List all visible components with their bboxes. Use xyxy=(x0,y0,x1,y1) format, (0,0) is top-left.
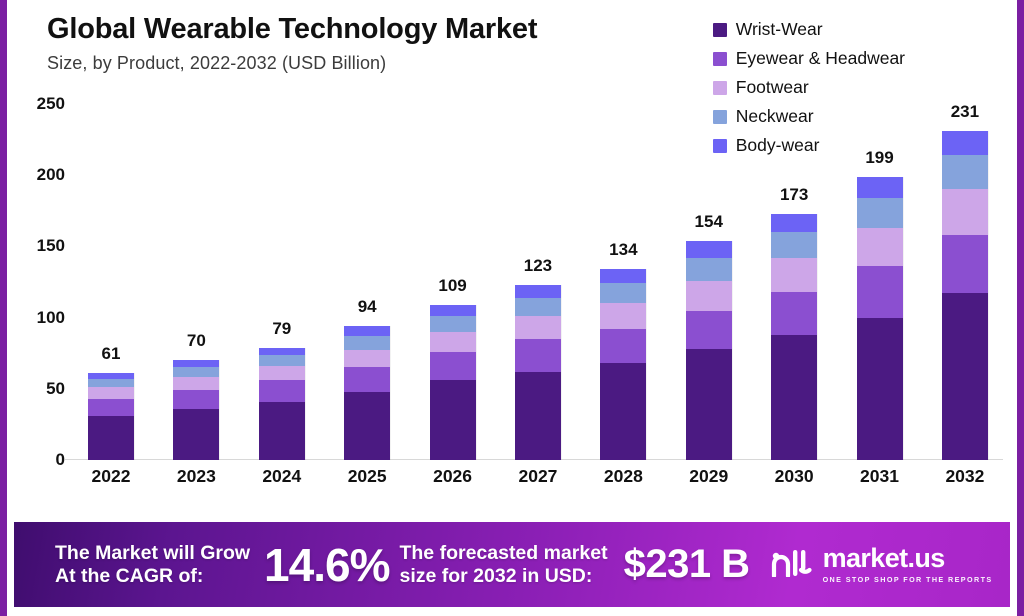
bar-segment-neckwear[interactable] xyxy=(600,283,646,303)
bar-segment-eyewear-headwear[interactable] xyxy=(857,266,903,317)
bar-segment-neckwear[interactable] xyxy=(173,367,219,377)
bar-total-label: 123 xyxy=(524,256,552,276)
right-edge-rail xyxy=(1017,0,1024,616)
bar-stack[interactable] xyxy=(515,285,561,460)
bar-segment-body-wear[interactable] xyxy=(259,348,305,355)
legend-swatch-icon xyxy=(713,23,727,37)
bar-segment-eyewear-headwear[interactable] xyxy=(515,339,561,372)
market-us-mark-icon xyxy=(770,547,814,582)
y-axis-tick: 100 xyxy=(37,308,65,328)
bar-group-2028[interactable]: 134 xyxy=(597,104,649,460)
bar-segment-eyewear-headwear[interactable] xyxy=(88,399,134,416)
x-axis-tick-2024: 2024 xyxy=(256,466,308,494)
forecast-label-line1: The forecasted market xyxy=(399,542,607,565)
bar-total-label: 61 xyxy=(102,344,121,364)
bar-segment-neckwear[interactable] xyxy=(942,155,988,189)
bar-segment-body-wear[interactable] xyxy=(942,131,988,155)
infographic-root: Global Wearable Technology Market Size, … xyxy=(0,0,1024,616)
bar-stack[interactable] xyxy=(857,177,903,460)
bar-segment-body-wear[interactable] xyxy=(515,285,561,298)
bar-total-label: 231 xyxy=(951,102,979,122)
forecast-label-line2: size for 2032 in USD: xyxy=(399,565,607,588)
bar-segment-eyewear-headwear[interactable] xyxy=(942,235,988,293)
bar-group-2023[interactable]: 70 xyxy=(170,104,222,460)
x-axis-tick-2023: 2023 xyxy=(170,466,222,494)
bar-segment-footwear[interactable] xyxy=(259,366,305,380)
bar-segment-eyewear-headwear[interactable] xyxy=(600,329,646,363)
legend-item-wrist-wear[interactable]: Wrist-Wear xyxy=(713,18,905,41)
y-axis-tick: 50 xyxy=(46,379,65,399)
market-us-wordmark: market.us ONE STOP SHOP FOR THE REPORTS xyxy=(823,545,993,583)
x-axis-tick-2025: 2025 xyxy=(341,466,393,494)
bar-group-2030[interactable]: 173 xyxy=(768,104,820,460)
cagr-block: The Market will Grow At the CAGR of: 14.… xyxy=(55,538,389,592)
bar-total-label: 94 xyxy=(358,297,377,317)
x-axis-tick-2027: 2027 xyxy=(512,466,564,494)
bar-segment-body-wear[interactable] xyxy=(600,269,646,283)
bar-segment-neckwear[interactable] xyxy=(857,198,903,228)
bar-segment-footwear[interactable] xyxy=(771,258,817,292)
bar-segment-neckwear[interactable] xyxy=(88,379,134,388)
bar-segment-neckwear[interactable] xyxy=(430,316,476,332)
bar-segment-footwear[interactable] xyxy=(942,189,988,235)
legend-label: Wrist-Wear xyxy=(736,19,823,40)
bar-segment-neckwear[interactable] xyxy=(771,232,817,258)
bar-segment-body-wear[interactable] xyxy=(686,241,732,258)
bar-stack[interactable] xyxy=(259,348,305,460)
bar-segment-neckwear[interactable] xyxy=(515,298,561,317)
bar-total-label: 134 xyxy=(609,240,637,260)
bar-segment-wrist-wear[interactable] xyxy=(942,293,988,460)
bar-segment-footwear[interactable] xyxy=(600,303,646,329)
bar-segment-wrist-wear[interactable] xyxy=(600,363,646,460)
bar-segment-wrist-wear[interactable] xyxy=(771,335,817,460)
bar-stack[interactable] xyxy=(771,214,817,460)
forecast-label: The forecasted market size for 2032 in U… xyxy=(399,542,607,588)
bar-group-2026[interactable]: 109 xyxy=(427,104,479,460)
bar-segment-eyewear-headwear[interactable] xyxy=(771,292,817,335)
page-subtitle: Size, by Product, 2022-2032 (USD Billion… xyxy=(47,53,537,74)
bar-total-label: 79 xyxy=(272,319,291,339)
x-axis-tick-2031: 2031 xyxy=(854,466,906,494)
legend-swatch-icon xyxy=(713,52,727,66)
bar-segment-footwear[interactable] xyxy=(173,377,219,390)
bar-group-2029[interactable]: 154 xyxy=(683,104,735,460)
bar-total-label: 109 xyxy=(438,276,466,296)
legend-label: Footwear xyxy=(736,77,809,98)
x-axis: 2022202320242025202620272028202920302031… xyxy=(73,466,1003,494)
bar-segment-neckwear[interactable] xyxy=(259,355,305,366)
bar-segment-wrist-wear[interactable] xyxy=(686,349,732,460)
bar-segment-eyewear-headwear[interactable] xyxy=(173,390,219,409)
bar-stack[interactable] xyxy=(173,360,219,460)
bar-stack[interactable] xyxy=(344,326,390,460)
bar-segment-body-wear[interactable] xyxy=(430,305,476,316)
bar-segment-wrist-wear[interactable] xyxy=(344,392,390,460)
bar-segment-eyewear-headwear[interactable] xyxy=(430,352,476,380)
bar-segment-eyewear-headwear[interactable] xyxy=(686,311,732,349)
plot-area: 050100150200250 617079941091231341541731… xyxy=(73,104,1003,460)
bar-total-label: 154 xyxy=(695,212,723,232)
summary-banner: The Market will Grow At the CAGR of: 14.… xyxy=(14,522,1010,607)
bar-total-label: 173 xyxy=(780,185,808,205)
x-axis-tick-2032: 2032 xyxy=(939,466,991,494)
bar-stack[interactable] xyxy=(686,241,732,460)
legend-item-eyewear-headwear[interactable]: Eyewear & Headwear xyxy=(713,47,905,70)
bar-segment-eyewear-headwear[interactable] xyxy=(344,367,390,391)
x-axis-tick-2022: 2022 xyxy=(85,466,137,494)
bar-segment-wrist-wear[interactable] xyxy=(173,409,219,460)
bar-segment-wrist-wear[interactable] xyxy=(857,318,903,460)
bar-segment-wrist-wear[interactable] xyxy=(88,416,134,460)
bar-segment-body-wear[interactable] xyxy=(857,177,903,198)
y-axis-tick: 0 xyxy=(56,450,65,470)
bar-segment-footwear[interactable] xyxy=(430,332,476,352)
y-axis-tick: 200 xyxy=(37,165,65,185)
bar-segment-body-wear[interactable] xyxy=(344,326,390,336)
bar-stack[interactable] xyxy=(942,131,988,460)
legend-item-footwear[interactable]: Footwear xyxy=(713,76,905,99)
forecast-value: $231 B xyxy=(624,542,750,587)
bar-group-2022[interactable]: 61 xyxy=(85,104,137,460)
bar-segment-footwear[interactable] xyxy=(515,316,561,339)
market-us-logo[interactable]: market.us ONE STOP SHOP FOR THE REPORTS xyxy=(770,545,993,583)
bar-stack[interactable] xyxy=(88,373,134,460)
bar-segment-neckwear[interactable] xyxy=(686,258,732,281)
logo-tagline: ONE STOP SHOP FOR THE REPORTS xyxy=(823,576,993,583)
bar-segment-eyewear-headwear[interactable] xyxy=(259,380,305,401)
x-axis-tick-2029: 2029 xyxy=(683,466,735,494)
bar-segment-body-wear[interactable] xyxy=(173,360,219,367)
bar-segment-wrist-wear[interactable] xyxy=(515,372,561,460)
cagr-label-line1: The Market will Grow xyxy=(55,542,250,565)
x-axis-tick-2028: 2028 xyxy=(597,466,649,494)
bar-group-2024[interactable]: 79 xyxy=(256,104,308,460)
bar-series-container: 61707994109123134154173199231 xyxy=(73,104,1003,460)
logo-name: market.us xyxy=(823,545,993,572)
bar-group-2025[interactable]: 94 xyxy=(341,104,393,460)
bar-group-2032[interactable]: 231 xyxy=(939,104,991,460)
bar-group-2027[interactable]: 123 xyxy=(512,104,564,460)
bar-stack[interactable] xyxy=(600,269,646,460)
cagr-value: 14.6% xyxy=(264,538,389,592)
forecast-block: The forecasted market size for 2032 in U… xyxy=(399,542,749,588)
bar-total-label: 199 xyxy=(865,148,893,168)
chart-header: Global Wearable Technology Market Size, … xyxy=(47,14,537,74)
y-axis-tick: 250 xyxy=(37,94,65,114)
x-axis-tick-2026: 2026 xyxy=(427,466,479,494)
y-axis-tick: 150 xyxy=(37,236,65,256)
bar-stack[interactable] xyxy=(430,305,476,460)
y-axis: 050100150200250 xyxy=(17,104,65,460)
cagr-label: The Market will Grow At the CAGR of: xyxy=(55,542,250,588)
bar-segment-footwear[interactable] xyxy=(88,387,134,398)
bar-segment-neckwear[interactable] xyxy=(344,336,390,350)
legend-swatch-icon xyxy=(713,81,727,95)
chart-card: Global Wearable Technology Market Size, … xyxy=(7,0,1017,616)
bar-segment-body-wear[interactable] xyxy=(771,214,817,233)
bar-total-label: 70 xyxy=(187,331,206,351)
x-axis-tick-2030: 2030 xyxy=(768,466,820,494)
bar-segment-footwear[interactable] xyxy=(857,228,903,266)
bar-segment-wrist-wear[interactable] xyxy=(259,402,305,460)
cagr-label-line2: At the CAGR of: xyxy=(55,565,250,588)
bar-group-2031[interactable]: 199 xyxy=(854,104,906,460)
bar-segment-footwear[interactable] xyxy=(686,281,732,311)
left-edge-rail xyxy=(0,0,7,616)
page-title: Global Wearable Technology Market xyxy=(47,14,537,46)
bar-segment-footwear[interactable] xyxy=(344,350,390,367)
legend-label: Eyewear & Headwear xyxy=(736,48,905,69)
bar-segment-wrist-wear[interactable] xyxy=(430,380,476,460)
